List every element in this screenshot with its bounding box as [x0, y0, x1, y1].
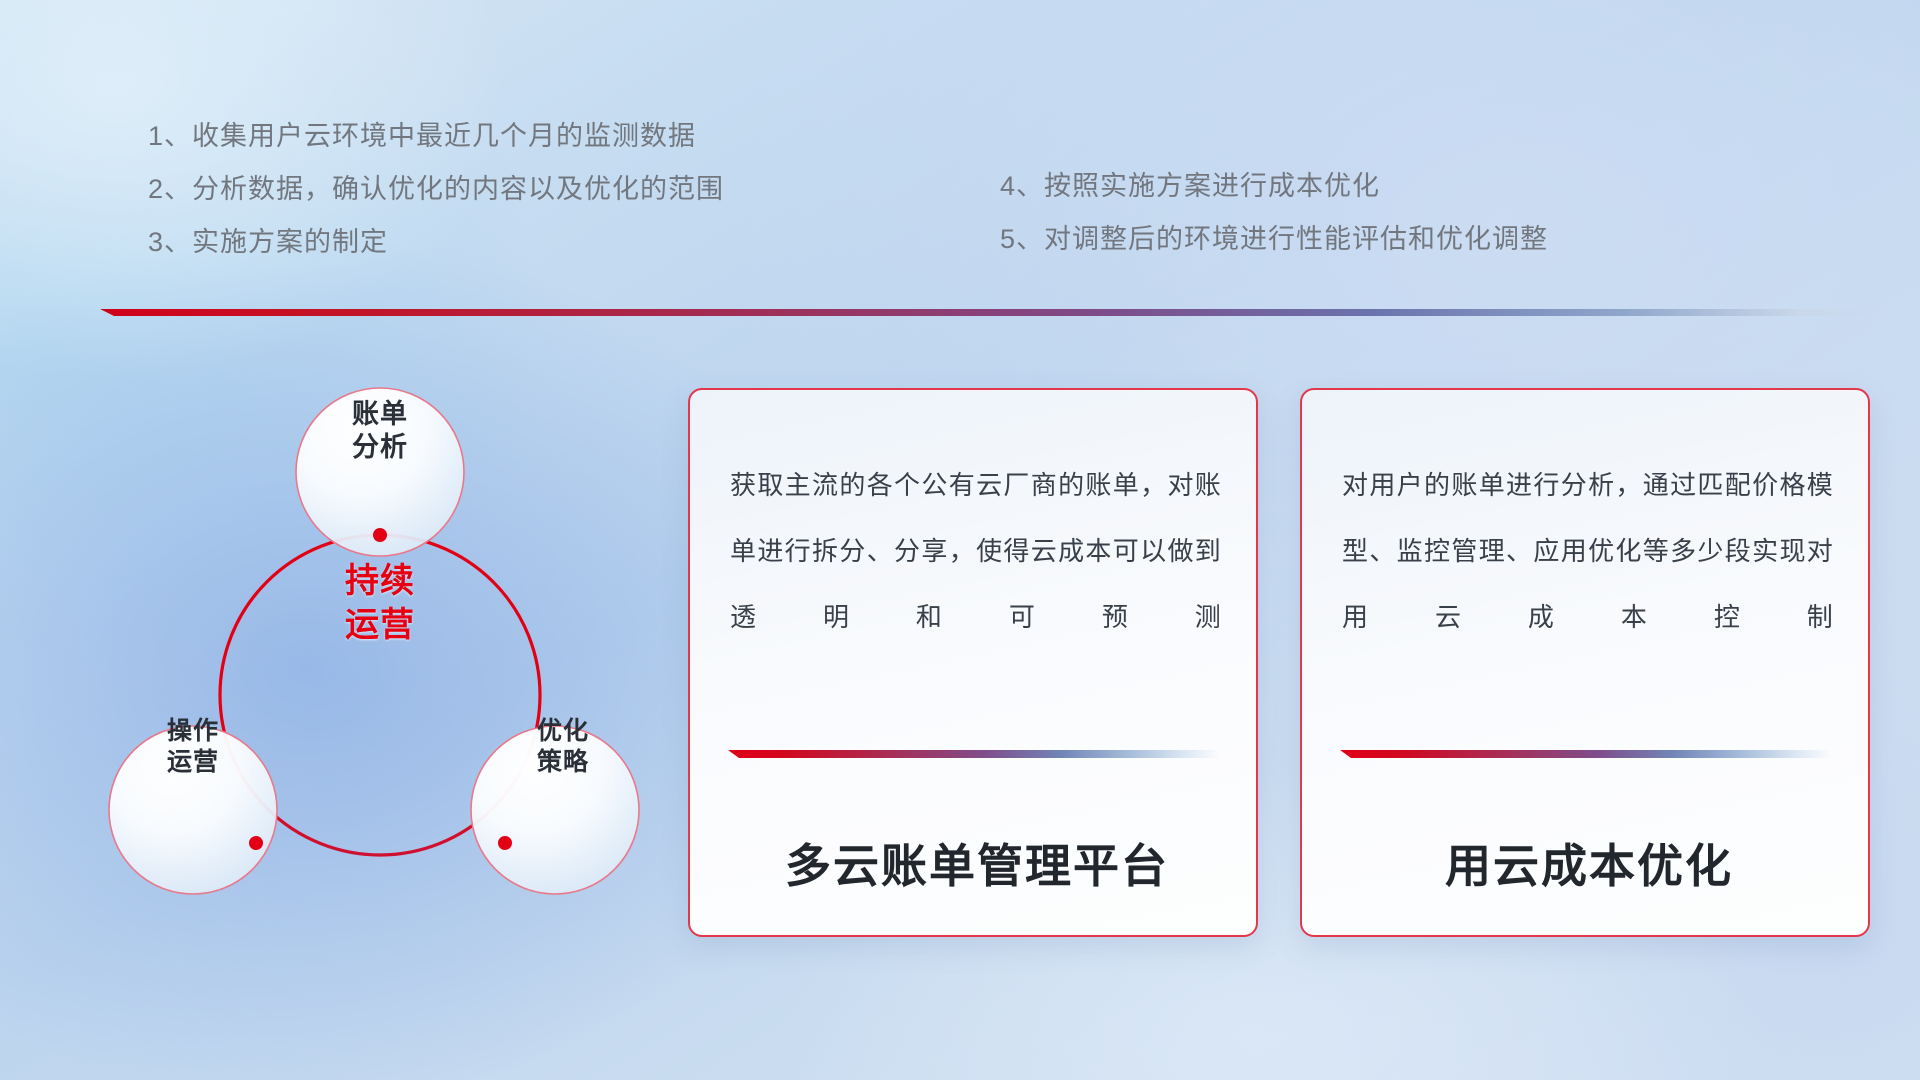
venn-node-right — [498, 836, 512, 850]
steps-right-column: 4、按照实施方案进行成本优化 5、对调整后的环境进行性能评估和优化调整 — [1000, 160, 1548, 266]
venn-circle-right — [471, 726, 639, 894]
card-divider — [728, 750, 1220, 758]
step-item-5: 5、对调整后的环境进行性能评估和优化调整 — [1000, 213, 1548, 266]
step-item-4: 4、按照实施方案进行成本优化 — [1000, 160, 1548, 213]
card-title-text: 用云成本优化 — [1340, 830, 1838, 896]
step-item-1: 1、收集用户云环境中最近几个月的监测数据 — [148, 110, 724, 163]
venn-diagram: 账单 分析 操作 运营 优化 策略 持续 运营 — [95, 350, 625, 950]
steps-left-column: 1、收集用户云环境中最近几个月的监测数据 2、分析数据，确认优化的内容以及优化的… — [148, 110, 724, 269]
venn-node-top — [373, 528, 387, 542]
venn-node-left — [249, 836, 263, 850]
card-cloud-cost-optimization[interactable]: 对用户的账单进行分析，通过匹配价格模型、监控管理、应用优化等多少段实现对用云成本… — [1300, 388, 1870, 937]
step-item-3: 3、实施方案的制定 — [148, 216, 724, 269]
card-body-text: 对用户的账单进行分析，通过匹配价格模型、监控管理、应用优化等多少段实现对用云成本… — [1342, 452, 1834, 650]
venn-circle-left — [109, 726, 277, 894]
step-item-2: 2、分析数据，确认优化的内容以及优化的范围 — [148, 163, 724, 216]
card-title-text: 多云账单管理平台 — [728, 830, 1226, 896]
card-body-text: 获取主流的各个公有云厂商的账单，对账单进行拆分、分享，使得云成本可以做到透明和可… — [730, 452, 1222, 650]
card-multicloud-billing[interactable]: 获取主流的各个公有云厂商的账单，对账单进行拆分、分享，使得云成本可以做到透明和可… — [688, 388, 1258, 937]
card-divider — [1340, 750, 1832, 758]
venn-diagram-svg — [95, 350, 625, 950]
section-divider-rule — [100, 309, 1870, 316]
